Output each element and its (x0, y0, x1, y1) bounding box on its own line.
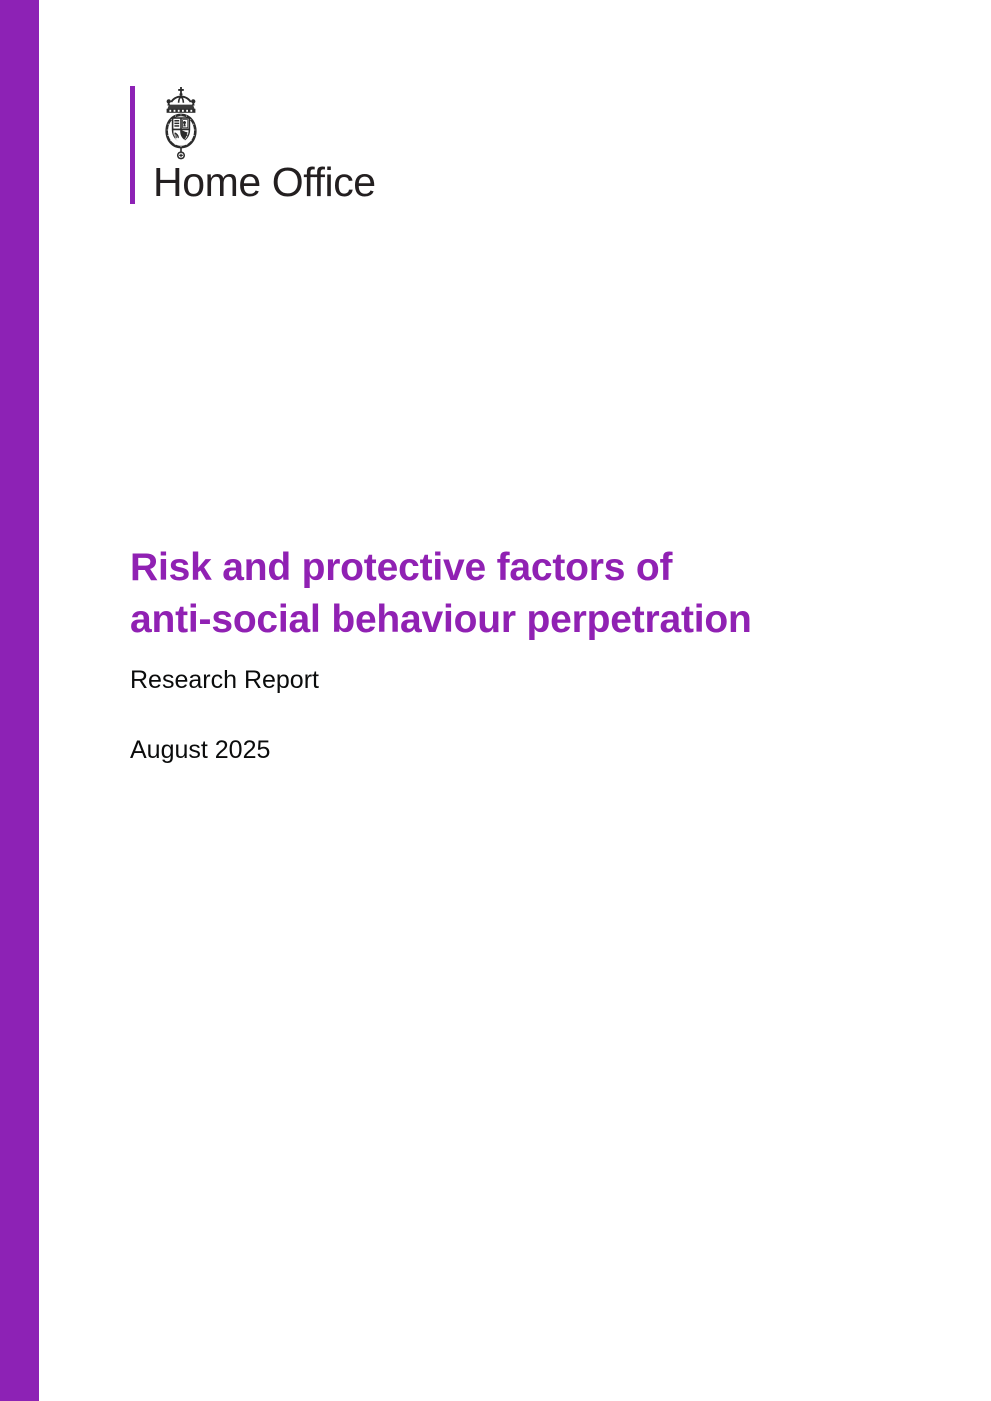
page-title-line-2: anti-social behaviour perpetration (130, 594, 920, 646)
logo-body: Home Office (153, 86, 376, 204)
royal-arms-crest-icon (155, 86, 207, 160)
home-office-logo: Home Office (130, 86, 376, 204)
page-title-line-1: Risk and protective factors of (130, 542, 920, 594)
home-office-wordmark: Home Office (153, 160, 376, 204)
document-subtitle: Research Report (130, 665, 319, 695)
logo-rule (130, 86, 135, 204)
publication-date: August 2025 (130, 735, 270, 765)
page-spine-bar (0, 0, 39, 1401)
cover-content: Home Office Risk and protective factors … (130, 0, 930, 1401)
page-title: Risk and protective factors of anti-soci… (130, 542, 920, 646)
